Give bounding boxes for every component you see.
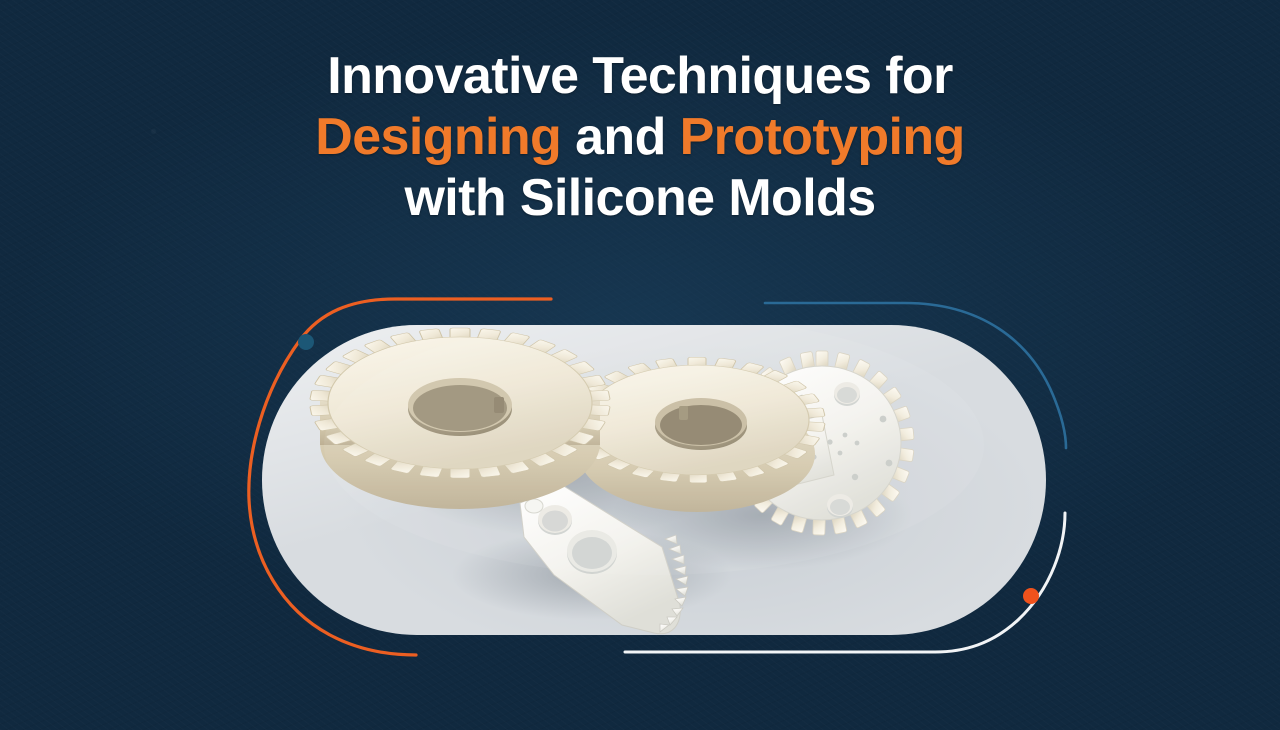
title-accent-prototyping: Prototyping xyxy=(680,108,965,166)
page-title: Innovative Techniques for Designing and … xyxy=(0,46,1280,229)
image-panel xyxy=(262,325,1046,635)
title-line-2: Designing and Prototyping xyxy=(0,107,1280,168)
title-accent-designing: Designing xyxy=(315,108,561,166)
decor-dot-blue-icon xyxy=(298,334,314,350)
title-line-3: with Silicone Molds xyxy=(0,168,1280,229)
gears-photo xyxy=(262,325,1046,635)
title-conjunction: and xyxy=(561,108,679,166)
decor-dot-orange-icon xyxy=(1023,588,1039,604)
title-line-1: Innovative Techniques for xyxy=(0,46,1280,107)
slide-canvas: Innovative Techniques for Designing and … xyxy=(0,0,1280,730)
